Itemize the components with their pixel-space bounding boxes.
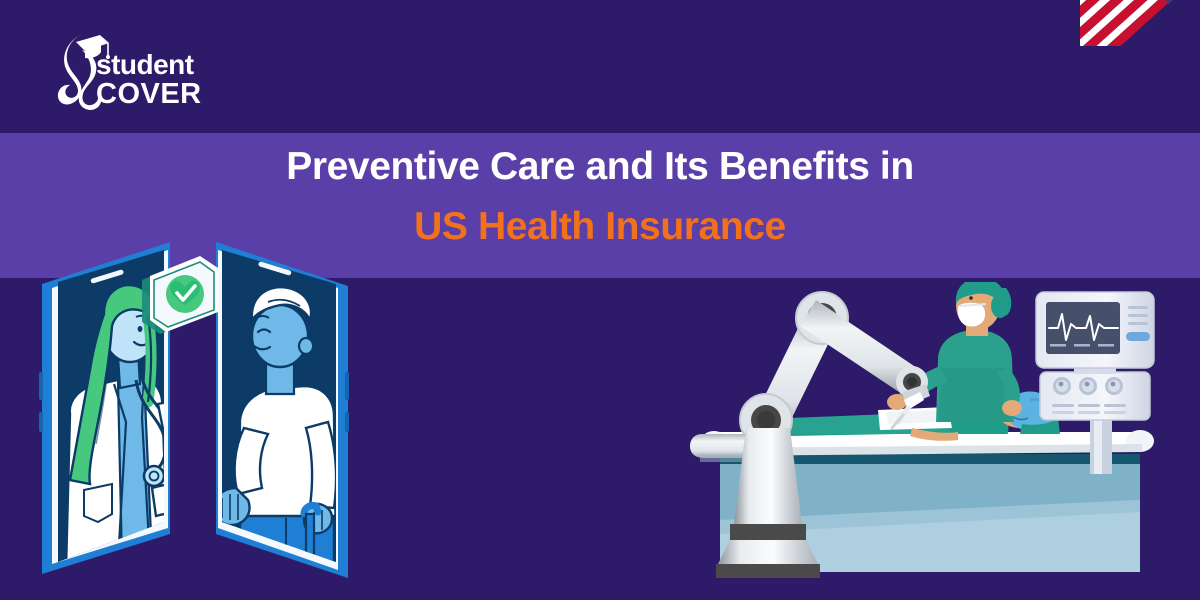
banner-root: student COVER Preventive Care and Its Be… (0, 0, 1200, 600)
brand-logo[interactable]: student COVER (52, 26, 202, 120)
logo-wordmark: student COVER (96, 51, 202, 109)
logo-text-student: student (96, 51, 202, 79)
robotic-surgery-illustration (690, 282, 1172, 600)
logo-text-cover: COVER (96, 80, 202, 109)
telehealth-consultation-illustration (18, 222, 388, 600)
us-flag-corner-ribbon (1080, 0, 1200, 46)
